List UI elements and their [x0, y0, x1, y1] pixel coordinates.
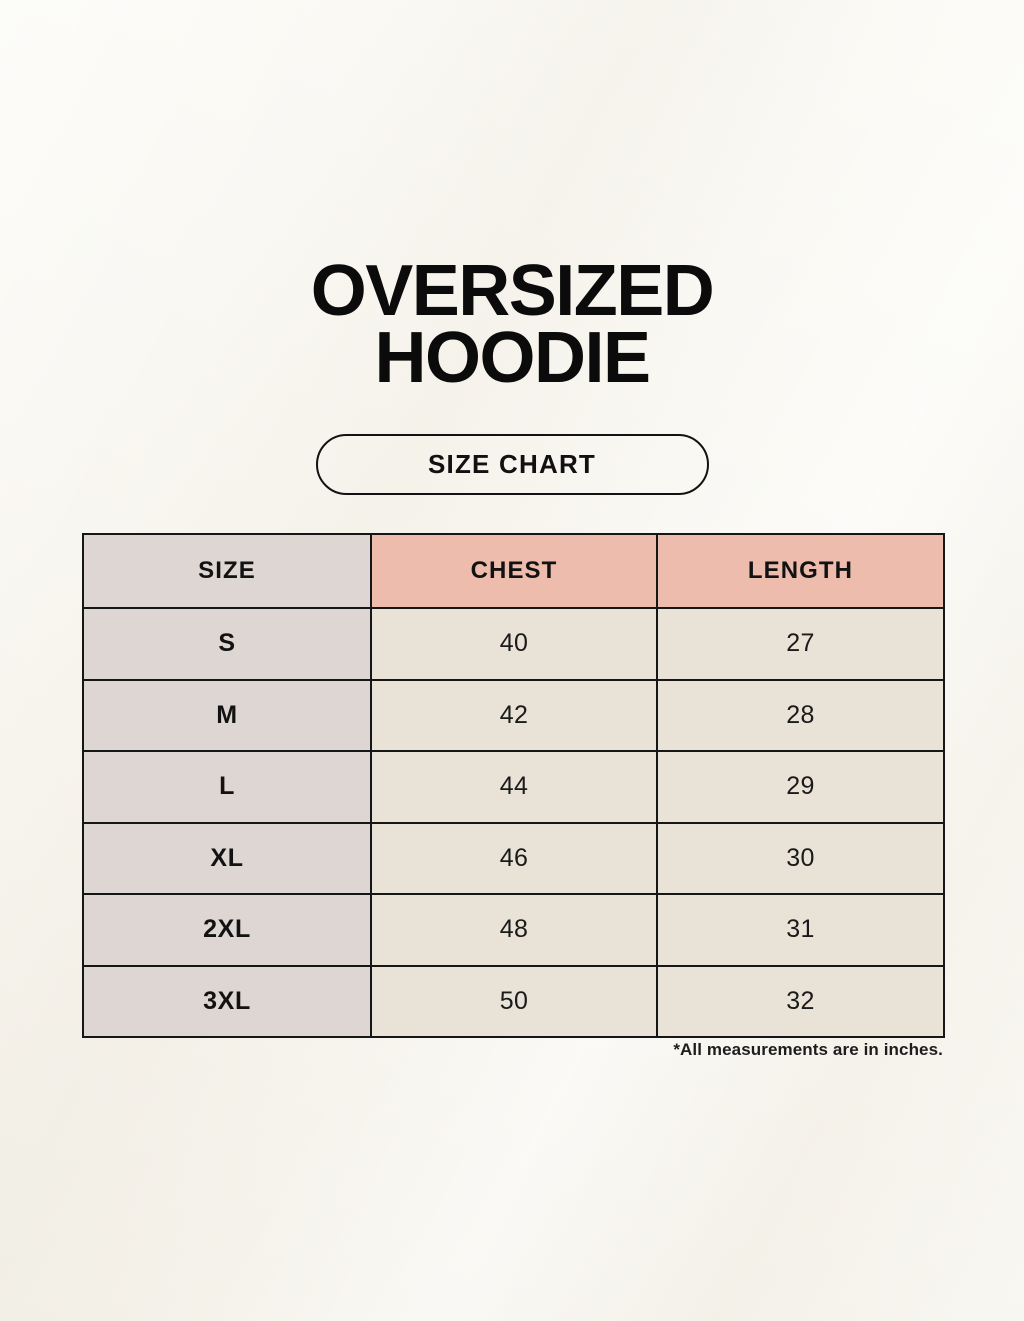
title-line-2: HOODIE: [0, 325, 1024, 392]
cell-length: 29: [657, 751, 944, 823]
size-chart-page: OVERSIZED HOODIE SIZE CHART SIZE CHEST L…: [0, 0, 1024, 1321]
cell-chest: 50: [371, 966, 657, 1038]
title-line-1: OVERSIZED: [0, 258, 1024, 325]
table-row: L 44 29: [83, 751, 944, 823]
column-header-length: LENGTH: [657, 534, 944, 608]
table-row: 2XL 48 31: [83, 894, 944, 966]
column-header-chest: CHEST: [371, 534, 657, 608]
table-header: SIZE CHEST LENGTH: [83, 534, 944, 608]
table-row: 3XL 50 32: [83, 966, 944, 1038]
cell-length: 31: [657, 894, 944, 966]
column-header-size: SIZE: [83, 534, 371, 608]
cell-size: XL: [83, 823, 371, 895]
table-row: S 40 27: [83, 608, 944, 680]
cell-size: L: [83, 751, 371, 823]
badge-container: SIZE CHART: [0, 434, 1024, 495]
measurements-note: *All measurements are in inches.: [82, 1040, 943, 1060]
cell-length: 30: [657, 823, 944, 895]
size-chart-table: SIZE CHEST LENGTH S 40 27 M 42 28 L 44 2…: [82, 533, 945, 1038]
cell-chest: 44: [371, 751, 657, 823]
cell-size: 2XL: [83, 894, 371, 966]
table-row: M 42 28: [83, 680, 944, 752]
cell-length: 28: [657, 680, 944, 752]
cell-size: S: [83, 608, 371, 680]
cell-size: 3XL: [83, 966, 371, 1038]
cell-chest: 42: [371, 680, 657, 752]
table-body: S 40 27 M 42 28 L 44 29 XL 46 30 2XL 48: [83, 608, 944, 1037]
cell-length: 27: [657, 608, 944, 680]
cell-size: M: [83, 680, 371, 752]
cell-length: 32: [657, 966, 944, 1038]
cell-chest: 46: [371, 823, 657, 895]
table-header-row: SIZE CHEST LENGTH: [83, 534, 944, 608]
cell-chest: 48: [371, 894, 657, 966]
table-row: XL 46 30: [83, 823, 944, 895]
page-title: OVERSIZED HOODIE: [0, 258, 1024, 392]
cell-chest: 40: [371, 608, 657, 680]
size-chart-badge: SIZE CHART: [316, 434, 709, 495]
